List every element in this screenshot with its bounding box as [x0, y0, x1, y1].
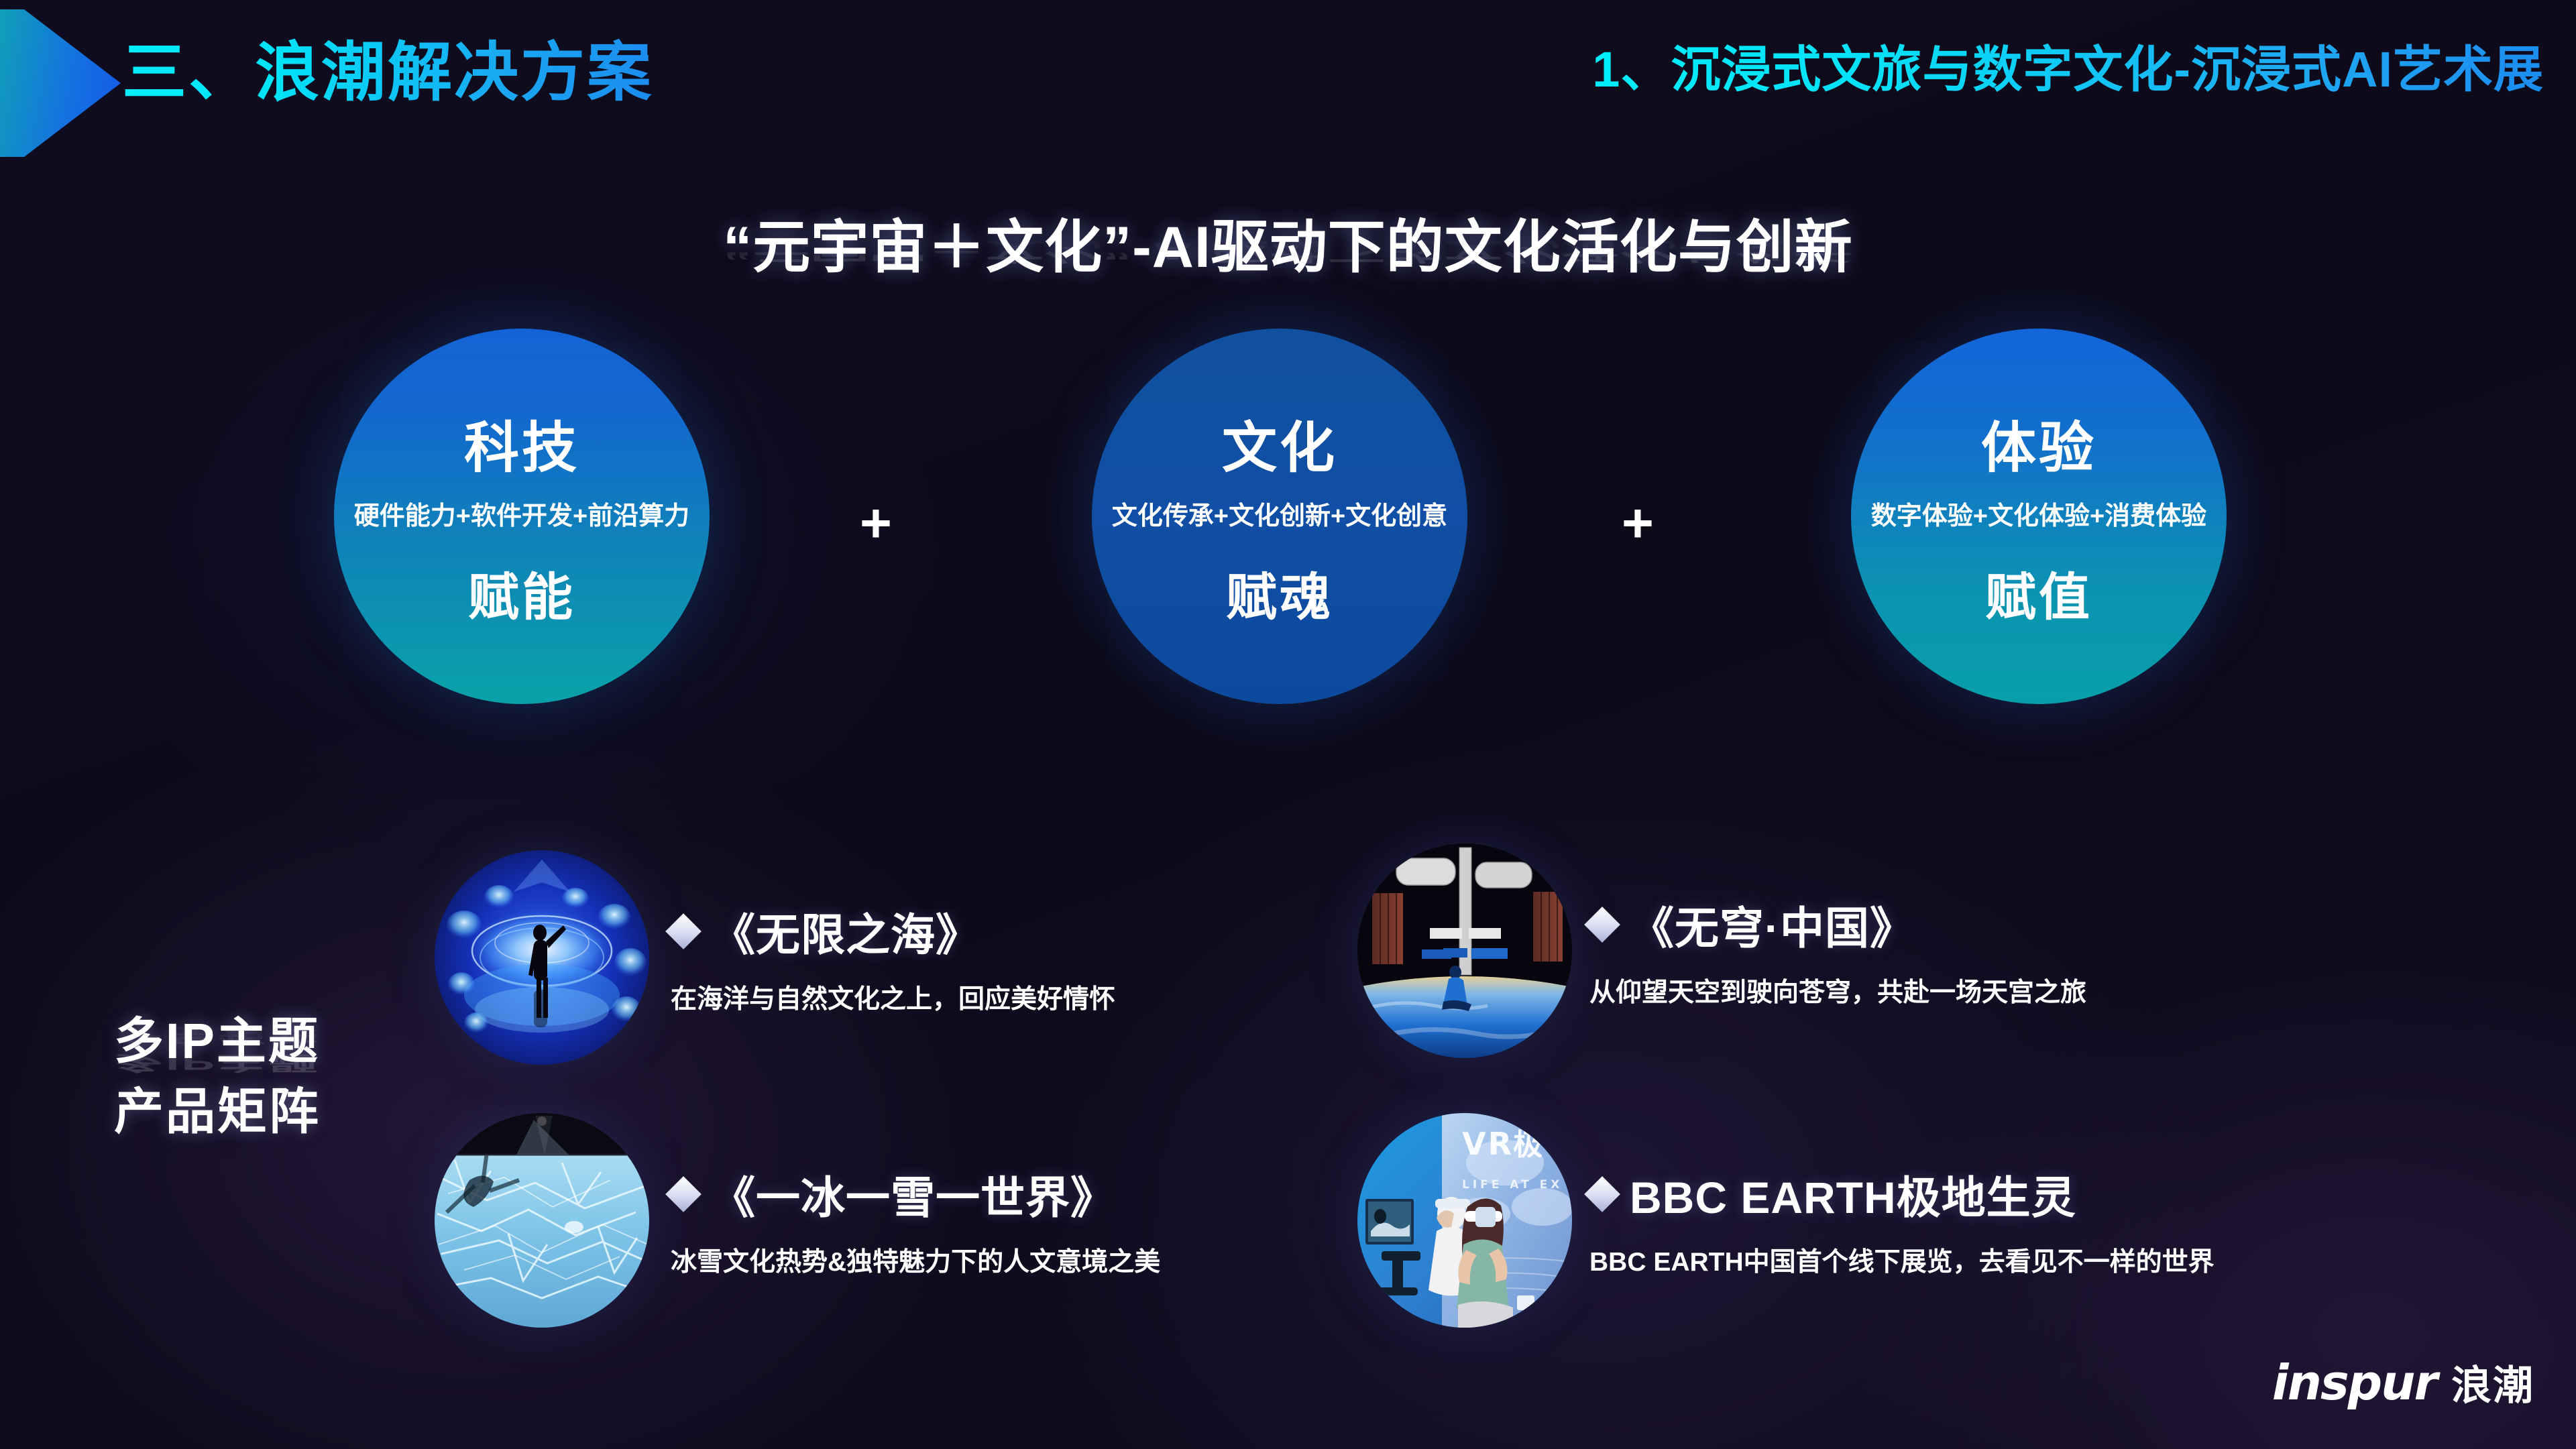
product-title-row: 《一冰一雪一世界》 — [671, 1162, 1160, 1226]
corner-arrow-decoration — [0, 9, 121, 157]
pillar-verb: 赋能 — [468, 556, 575, 630]
product-text: BBC EARTH极地生灵 BBC EARTH中国首个线下展览，去看见不一样的世… — [1589, 1162, 2215, 1279]
product-subtitle: 冰雪文化热势&独特魅力下的人文意境之美 — [671, 1241, 1160, 1279]
matrix-label-line2: 产品矩阵 — [114, 1076, 321, 1147]
product-text: 《一冰一雪一世界》 冰雪文化热势&独特魅力下的人文意境之美 — [671, 1162, 1160, 1279]
pillar-circle-culture[interactable]: 文化 文化传承+文化创新+文化创意 赋魂 — [1092, 329, 1467, 704]
product-item-ice[interactable]: 《一冰一雪一世界》 冰雪文化热势&独特魅力下的人文意境之美 — [435, 1113, 1160, 1328]
diamond-bullet-icon — [1584, 1176, 1620, 1212]
page-headline: “元宇宙＋文化”-AI驱动下的文化活化与创新 — [0, 200, 2576, 284]
product-subtitle: 从仰望天空到驶向苍穹，共赴一场天宫之旅 — [1589, 972, 2086, 1009]
svg-text:VR: VR — [1462, 1126, 1514, 1162]
product-title-row: 《无穹·中国》 — [1589, 892, 2086, 957]
pillar-verb: 赋值 — [1985, 556, 2092, 630]
product-subtitle: 在海洋与自然文化之上，回应美好情怀 — [671, 978, 1115, 1016]
pillar-circle-technology[interactable]: 科技 硬件能力+软件开发+前沿算力 赋能 — [334, 329, 710, 704]
slide-root: 三、浪潮解决方案 1、沉浸式文旅与数字文化-沉浸式AI艺术展 “元宇宙＋文化”-… — [0, 0, 2576, 1449]
product-subtitle: BBC EARTH中国首个线下展览，去看见不一样的世界 — [1589, 1241, 2215, 1279]
subsection-title: 1、沉浸式文旅与数字文化-沉浸式AI艺术展 — [1592, 30, 2544, 101]
vr-experience-photo: VR 极 LIFE AT EX — [1357, 1113, 1572, 1328]
product-title-row: BBC EARTH极地生灵 — [1589, 1162, 2215, 1226]
matrix-label-line1: 多IP主题 — [114, 1006, 321, 1076]
product-title: 《无穹·中国》 — [1630, 892, 1915, 957]
space-station-earth-photo — [1357, 844, 1572, 1058]
diamond-bullet-icon — [665, 913, 702, 949]
plus-separator-2: + — [1622, 496, 1654, 551]
svg-text:极: 极 — [1513, 1128, 1543, 1162]
inspur-logo: inspur 浪潮 — [2272, 1353, 2534, 1411]
logo-en-text: inspur — [2272, 1354, 2437, 1411]
pillar-circle-experience[interactable]: 体验 数字体验+文化体验+消费体验 赋值 — [1851, 329, 2227, 704]
pillars-group: 科技 硬件能力+软件开发+前沿算力 赋能 + 文化 文化传承+文化创新+文化创意… — [0, 329, 2576, 798]
diamond-bullet-icon — [1584, 907, 1620, 943]
product-title-row: 《无限之海》 — [671, 899, 1115, 964]
product-text: 《无穹·中国》 从仰望天空到驶向苍穹，共赴一场天宫之旅 — [1589, 892, 2086, 1009]
pillar-formula: 文化传承+文化创新+文化创意 — [1112, 495, 1447, 532]
pillar-title: 体验 — [1981, 403, 2096, 483]
ice-crystal-projection-photo — [435, 1113, 649, 1328]
product-title: 《一冰一雪一世界》 — [711, 1162, 1115, 1226]
diamond-bullet-icon — [665, 1176, 702, 1212]
product-title: 《无限之海》 — [711, 899, 981, 964]
plus-separator-1: + — [860, 496, 892, 551]
pillar-formula: 硬件能力+软件开发+前沿算力 — [354, 495, 689, 532]
pillar-formula: 数字体验+文化体验+消费体验 — [1871, 495, 2206, 532]
product-text: 《无限之海》 在海洋与自然文化之上，回应美好情怀 — [671, 899, 1115, 1016]
matrix-label: 多IP主题 产品矩阵 — [114, 1006, 321, 1147]
pillar-title: 科技 — [464, 403, 579, 483]
section-title: 三、浪潮解决方案 — [122, 20, 653, 113]
pillar-verb: 赋魂 — [1226, 556, 1333, 630]
svg-text:LIFE AT EX: LIFE AT EX — [1462, 1178, 1563, 1192]
product-title: BBC EARTH极地生灵 — [1630, 1162, 2076, 1226]
logo-cn-text: 浪潮 — [2451, 1353, 2534, 1411]
product-item-bbc-earth[interactable]: VR 极 LIFE AT EX — [1357, 1113, 2215, 1328]
ocean-jellyfish-projection-photo — [435, 850, 649, 1065]
product-item-ocean[interactable]: 《无限之海》 在海洋与自然文化之上，回应美好情怀 — [435, 850, 1115, 1065]
product-item-space[interactable]: 《无穹·中国》 从仰望天空到驶向苍穹，共赴一场天宫之旅 — [1357, 844, 2086, 1058]
pillar-title: 文化 — [1222, 403, 1337, 483]
